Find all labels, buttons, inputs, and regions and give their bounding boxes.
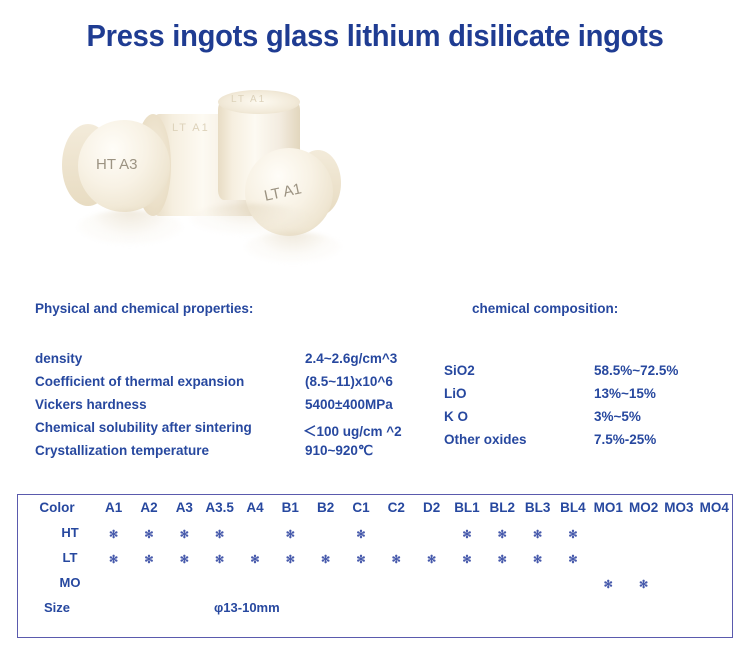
cell-lt-bl3: ✻ [520,545,555,570]
availability-star-icon: ✻ [568,530,577,541]
chemical-label-lio: LiO [444,386,467,401]
cell-lt-bl4: ✻ [555,545,590,570]
ingot-reflection-left [78,210,182,244]
table-header-a3-5: A3.5 [202,495,237,520]
table-row-size: Sizeφ13-10mm [18,595,732,620]
availability-star-icon: ✻ [498,530,507,541]
cell-lt-d2: ✻ [414,545,449,570]
table-header-color: Color [18,495,96,520]
cell-ht-mo4 [697,520,732,545]
cell-mo-d2 [414,570,449,595]
table-row-mo: MO✻✻ [18,570,732,595]
availability-star-icon: ✻ [180,555,189,566]
cell-lt-mo3 [661,545,696,570]
cell-mo-mo2: ✻ [626,570,661,595]
table-row-lt: LT✻✻✻✻✻✻✻✻✻✻✻✻✻✻ [18,545,732,570]
cell-mo-a3-5 [202,570,237,595]
availability-star-icon: ✻ [639,580,648,591]
table-header-b2: B2 [308,495,343,520]
physical-label-cte: Coefficient of thermal expansion [35,374,244,389]
physical-label-crystallization: Crystallization temperature [35,443,209,458]
cell-ht-bl1: ✻ [449,520,484,545]
physical-value-solubility: ＜100 ug/cm ^2 [303,420,402,440]
table-header-bl4: BL4 [555,495,590,520]
ingot-reflection-mid [190,204,310,234]
cell-ht-a1: ✻ [96,520,131,545]
cell-lt-bl2: ✻ [485,545,520,570]
availability-star-icon: ✻ [215,530,224,541]
table-rowlabel-lt: LT [18,545,96,570]
table-header-a1: A1 [96,495,131,520]
cell-lt-mo4 [697,545,732,570]
table-rowlabel-ht: HT [18,520,96,545]
table-header-c2: C2 [379,495,414,520]
cell-ht-mo3 [661,520,696,545]
cell-lt-bl1: ✻ [449,545,484,570]
chemical-label-ko: K O [444,409,468,424]
table-header-d2: D2 [414,495,449,520]
cell-lt-c1: ✻ [343,545,378,570]
availability-star-icon: ✻ [392,555,401,566]
availability-star-icon: ✻ [180,530,189,541]
product-spec-page: Press ingots glass lithium disilicate in… [0,0,750,661]
table-header-a3: A3 [167,495,202,520]
cell-lt-c2: ✻ [379,545,414,570]
table-header-a4: A4 [237,495,272,520]
cell-lt-a3-5: ✻ [202,545,237,570]
cell-mo-mo4 [697,570,732,595]
ingot-faint-label-1: LT A1 [172,122,210,134]
chemical-value-ko: 3%~5% [594,409,641,424]
cell-ht-c1: ✻ [343,520,378,545]
availability-star-icon: ✻ [109,530,118,541]
cell-mo-c2 [379,570,414,595]
availability-star-icon: ✻ [462,530,471,541]
chemical-label-other-oxides: Other oxides [444,432,527,447]
cell-lt-a4: ✻ [237,545,272,570]
availability-star-icon: ✻ [286,530,295,541]
cell-ht-a3-5: ✻ [202,520,237,545]
table-row-ht: HT✻✻✻✻✻✻✻✻✻✻ [18,520,732,545]
availability-star-icon: ✻ [427,555,436,566]
cell-mo-c1 [343,570,378,595]
cell-mo-bl4 [555,570,590,595]
cell-ht-mo2 [626,520,661,545]
shade-availability-table: Color A1A2A3A3.5A4B1B2C1C2D2BL1BL2BL3BL4… [17,494,733,638]
table-header-mo1: MO1 [591,495,626,520]
cell-lt-a1: ✻ [96,545,131,570]
cell-lt-mo1 [591,545,626,570]
cell-lt-b1: ✻ [273,545,308,570]
cell-ht-bl2: ✻ [485,520,520,545]
physical-value-vickers: 5400±400MPa [305,397,393,412]
cell-mo-bl1 [449,570,484,595]
cell-mo-b2 [308,570,343,595]
cell-ht-b2 [308,520,343,545]
availability-star-icon: ✻ [356,530,365,541]
table-header-a2: A2 [131,495,166,520]
product-image: LT A1 LT A1 HT A3 LT A1 [40,92,710,272]
chemical-value-other-oxides: 7.5%-25% [594,432,656,447]
table-header-mo3: MO3 [661,495,696,520]
cell-mo-a2 [131,570,166,595]
availability-star-icon: ✻ [144,530,153,541]
shade-table-body: HT✻✻✻✻✻✻✻✻✻✻LT✻✻✻✻✻✻✻✻✻✻✻✻✻✻MO✻✻Sizeφ13-… [18,520,732,620]
cell-ht-a4 [237,520,272,545]
cell-lt-a2: ✻ [131,545,166,570]
cell-ht-bl4: ✻ [555,520,590,545]
availability-star-icon: ✻ [321,555,330,566]
availability-star-icon: ✻ [286,555,295,566]
availability-star-icon: ✻ [462,555,471,566]
physical-properties-heading: Physical and chemical properties: [35,301,253,316]
cell-mo-mo3 [661,570,696,595]
cell-lt-mo2 [626,545,661,570]
table-header-bl3: BL3 [520,495,555,520]
cell-mo-mo1: ✻ [591,570,626,595]
cell-ht-a2: ✻ [131,520,166,545]
physical-label-density: density [35,351,82,366]
availability-star-icon: ✻ [356,555,365,566]
cell-lt-b2: ✻ [308,545,343,570]
table-header-c1: C1 [343,495,378,520]
availability-star-icon: ✻ [498,555,507,566]
cell-mo-b1 [273,570,308,595]
cell-mo-bl3 [520,570,555,595]
cell-ht-c2 [379,520,414,545]
cell-ht-d2 [414,520,449,545]
chemical-label-sio2: SiO2 [444,363,475,378]
physical-label-solubility: Chemical solubility after sintering [35,420,252,435]
table-header-row: Color A1A2A3A3.5A4B1B2C1C2D2BL1BL2BL3BL4… [18,495,732,520]
page-title: Press ingots glass lithium disilicate in… [23,18,728,54]
cell-mo-a1 [96,570,131,595]
table-rowlabel-mo: MO [18,570,96,595]
cell-ht-b1: ✻ [273,520,308,545]
chemical-composition-heading: chemical composition: [472,301,618,316]
physical-label-vickers: Vickers hardness [35,397,147,412]
cell-mo-a3 [167,570,202,595]
cell-ht-bl3: ✻ [520,520,555,545]
table-header-bl2: BL2 [485,495,520,520]
availability-star-icon: ✻ [604,580,613,591]
availability-star-icon: ✻ [109,555,118,566]
availability-star-icon: ✻ [144,555,153,566]
physical-value-density: 2.4~2.6g/cm^3 [305,351,397,366]
chemical-value-lio: 13%~15% [594,386,656,401]
availability-star-icon: ✻ [568,555,577,566]
ingot-reflection-right [245,232,341,262]
chemical-value-sio2: 58.5%~72.5% [594,363,678,378]
availability-star-icon: ✻ [250,555,259,566]
table-value-size: φ13-10mm [96,595,732,620]
cell-mo-bl2 [485,570,520,595]
cell-lt-a3: ✻ [167,545,202,570]
cell-ht-mo1 [591,520,626,545]
table-header-mo2: MO2 [626,495,661,520]
cell-mo-a4 [237,570,272,595]
cell-ht-a3: ✻ [167,520,202,545]
physical-value-crystallization: 910~920℃ [305,443,373,459]
ingot-label-ht-a3: HT A3 [96,156,137,173]
availability-star-icon: ✻ [533,555,542,566]
availability-star-icon: ✻ [215,555,224,566]
table-header-b1: B1 [273,495,308,520]
ingot-faint-label-2: LT A1 [231,94,266,105]
table-header-bl1: BL1 [449,495,484,520]
availability-star-icon: ✻ [533,530,542,541]
shade-table-grid: Color A1A2A3A3.5A4B1B2C1C2D2BL1BL2BL3BL4… [18,495,732,620]
table-header-mo4: MO4 [697,495,732,520]
physical-value-cte: (8.5~11)x10^6 [305,374,393,389]
table-rowlabel-size: Size [18,595,96,620]
